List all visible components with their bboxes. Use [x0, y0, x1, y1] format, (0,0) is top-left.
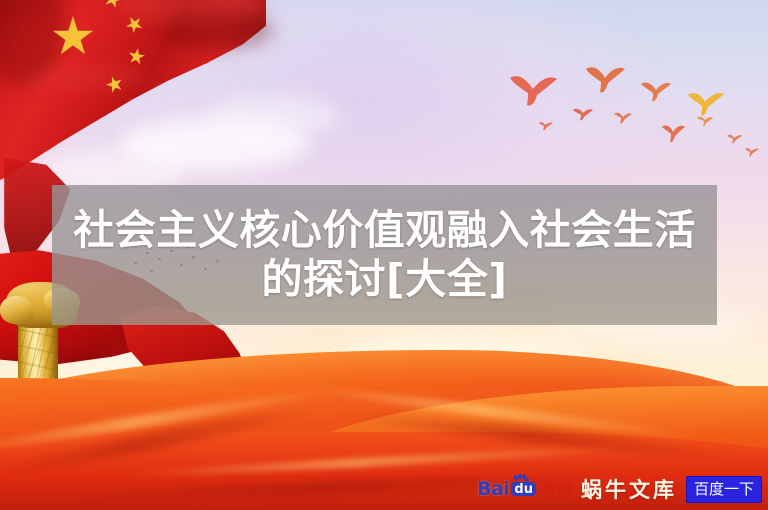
bird-8 [696, 114, 714, 128]
bird-9 [726, 132, 743, 145]
watermark-bar: Bai du 百度 蜗牛文库 百度一下 [477, 474, 762, 504]
pillar-ornament-1 [0, 296, 34, 324]
page-title: 社会主义核心价值观融入社会生活的探讨[大全] [52, 206, 717, 304]
baidu-logo-chinese: 百度 [540, 477, 572, 502]
bird-6 [613, 110, 633, 125]
bird-2 [583, 62, 627, 96]
bird-1 [506, 70, 560, 110]
title-overlay-band: 社会主义核心价值观融入社会生活的探讨[大全] [52, 185, 717, 325]
baidu-logo-bai: Bai [477, 478, 509, 500]
flag-shadow-2 [164, 10, 274, 50]
bird-3 [639, 78, 673, 104]
baidu-logo-du-text: du [514, 482, 533, 497]
poster-image: 社会主义核心价值观融入社会生活的探讨[大全] Bai du 百度 蜗牛文库 百度… [0, 0, 768, 510]
baidu-search-button[interactable]: 百度一下 [686, 476, 762, 503]
paw-print-icon [513, 474, 529, 483]
baidu-logo-du: du [511, 482, 536, 496]
bird-7 [660, 122, 686, 144]
baidu-logo[interactable]: Bai du 百度 [477, 477, 572, 502]
bird-11 [538, 120, 554, 132]
bird-5 [572, 106, 594, 122]
bird-10 [744, 146, 760, 158]
site-brand-name: 蜗牛文库 [581, 474, 677, 504]
